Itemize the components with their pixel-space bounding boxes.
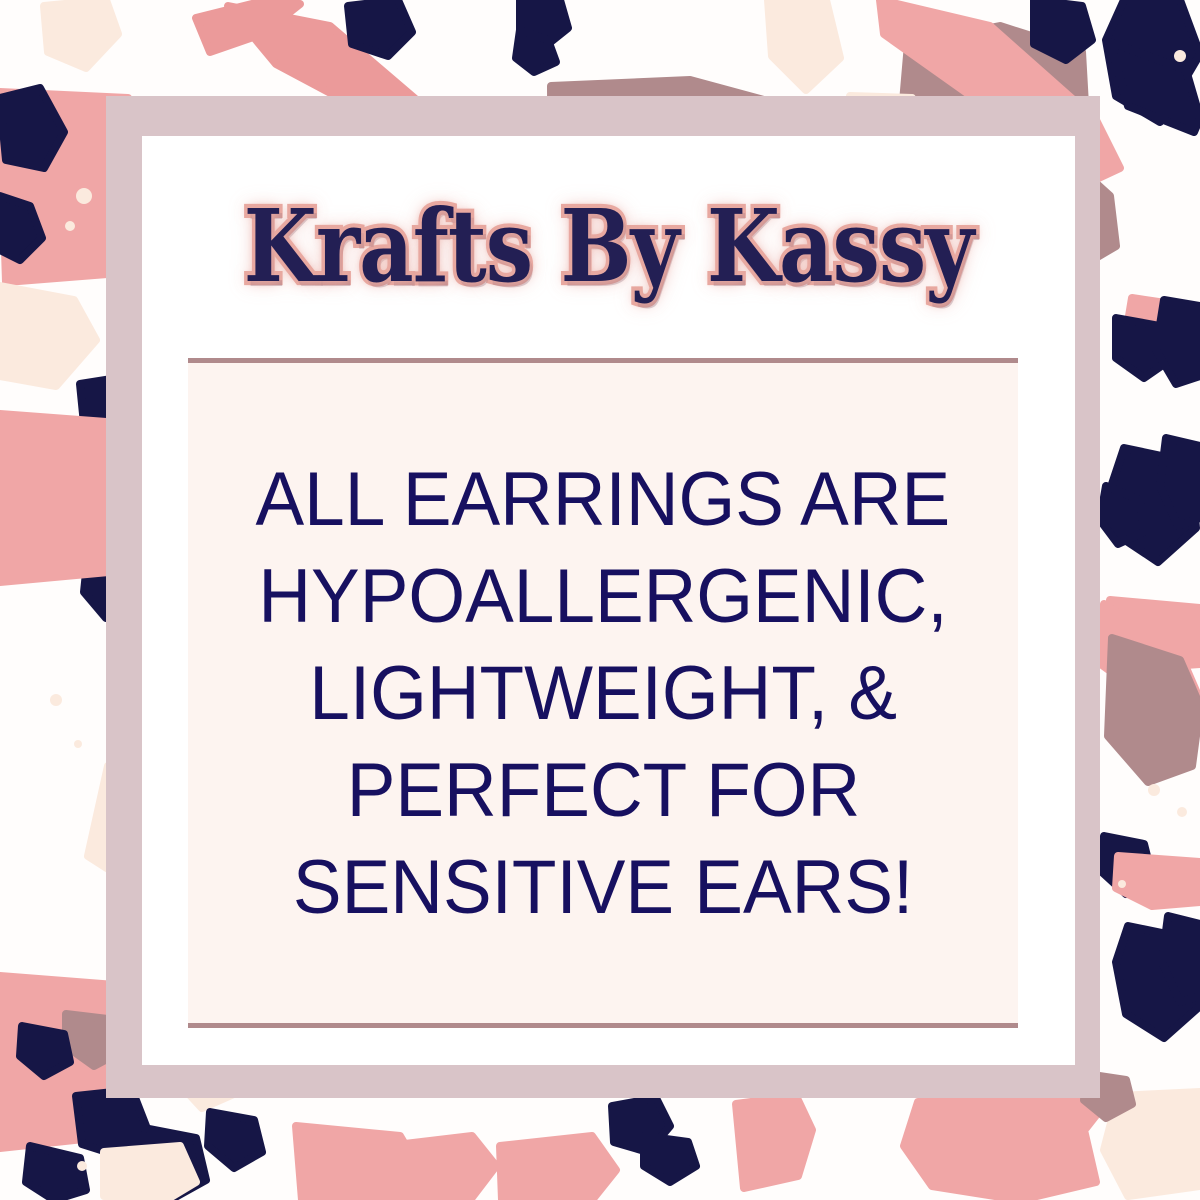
terrazzo-dot <box>1174 50 1186 62</box>
card-inner-white: Krafts By Kassy ALL EARRINGS ARE HYPOALL… <box>142 136 1075 1065</box>
terrazzo-dot <box>1177 807 1187 817</box>
terrazzo-dot <box>50 694 62 706</box>
terrazzo-dot <box>1148 784 1160 796</box>
terrazzo-shape <box>26 1146 86 1200</box>
panel-rule-bottom <box>188 1023 1018 1028</box>
terrazzo-shape <box>296 1126 420 1200</box>
terrazzo-shape <box>500 1136 616 1200</box>
terrazzo-dot <box>1118 880 1126 888</box>
headline-line: SENSITIVE EARS! <box>293 839 913 936</box>
terrazzo-dot <box>77 1161 87 1171</box>
headline-line: PERFECT FOR <box>346 742 859 839</box>
logo-area: Krafts By Kassy <box>142 136 1075 358</box>
headline-line: LIGHTWEIGHT, & <box>309 645 897 742</box>
terrazzo-shape <box>1100 486 1144 544</box>
brand-logo-text: Krafts By Kassy <box>244 197 974 297</box>
headline-block: ALL EARRINGS ARE HYPOALLERGENIC, LIGHTWE… <box>214 358 992 1028</box>
terrazzo-shape <box>1034 0 1092 60</box>
terrazzo-shape <box>644 1136 696 1182</box>
terrazzo-shape <box>1116 856 1200 906</box>
headline-line: HYPOALLERGENIC, <box>258 548 947 645</box>
terrazzo-dot <box>74 740 82 748</box>
terrazzo-shape <box>736 1096 812 1188</box>
message-panel: ALL EARRINGS ARE HYPOALLERGENIC, LIGHTWE… <box>188 358 1018 1028</box>
poster-canvas: Krafts By Kassy ALL EARRINGS ARE HYPOALL… <box>0 0 1200 1200</box>
terrazzo-dot <box>76 188 92 204</box>
card-outer-frame: Krafts By Kassy ALL EARRINGS ARE HYPOALL… <box>106 96 1100 1098</box>
terrazzo-dot <box>65 221 75 231</box>
headline-line: ALL EARRINGS ARE <box>256 451 951 548</box>
terrazzo-shape <box>104 1146 196 1200</box>
